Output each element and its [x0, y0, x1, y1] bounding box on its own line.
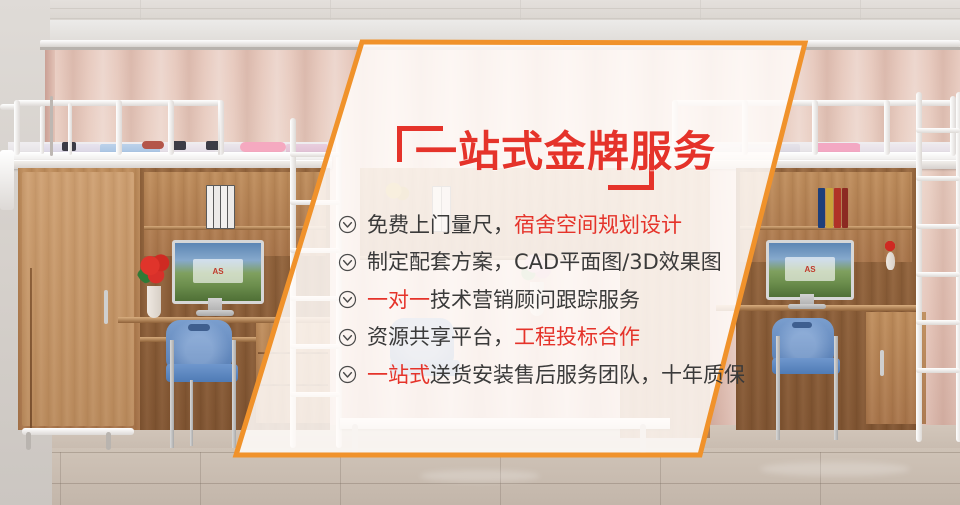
chevron-down-circle-icon	[338, 328, 357, 347]
list-item-text: 一站式送货安装售后服务团队，十年质保	[367, 363, 745, 387]
list-item-text: 免费上门量尺，宿舍空间规划设计	[367, 213, 682, 237]
list-item: 资源共享平台，工程投标合作	[338, 319, 745, 357]
chevron-down-circle-icon	[338, 215, 357, 234]
service-list: 免费上门量尺，宿舍空间规划设计 制定配套方案，CAD平面图/3D效果图	[338, 206, 745, 394]
list-item: 免费上门量尺，宿舍空间规划设计	[338, 206, 745, 244]
list-item-text: 一对一技术营销顾问跟踪服务	[367, 288, 640, 312]
list-item: 一站式送货安装售后服务团队，十年质保	[338, 356, 745, 394]
list-item: 制定配套方案，CAD平面图/3D效果图	[338, 244, 745, 282]
chevron-down-circle-icon	[338, 253, 357, 272]
banner-stage: AS	[0, 0, 960, 505]
page-title: 一站式金牌服务	[415, 128, 716, 176]
list-item-text: 资源共享平台，工程投标合作	[367, 325, 640, 349]
chevron-down-circle-icon	[338, 290, 357, 309]
list-item: 一对一技术营销顾问跟踪服务	[338, 281, 745, 319]
promo-overlay: 一站式金牌服务 免费上门量尺，宿舍空间规划设计	[0, 0, 960, 505]
list-item-text: 制定配套方案，CAD平面图/3D效果图	[367, 250, 722, 274]
chevron-down-circle-icon	[338, 365, 357, 384]
